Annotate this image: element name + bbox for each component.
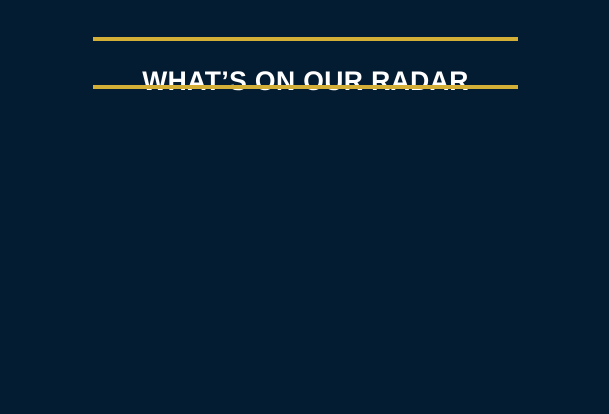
content-area — [0, 100, 609, 414]
slide-canvas: WHAT’S ON OUR RADAR — [0, 0, 609, 414]
top-divider-rule — [93, 37, 518, 41]
bottom-divider-rule — [93, 85, 518, 89]
page-title: WHAT’S ON OUR RADAR — [93, 59, 518, 103]
title-header-block: WHAT’S ON OUR RADAR — [93, 37, 518, 89]
